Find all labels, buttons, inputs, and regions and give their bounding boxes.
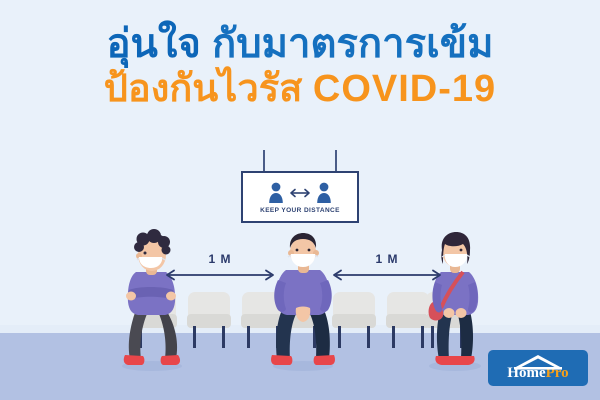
eye-right [308,249,311,252]
headline-rest: กับมาตรการเข้ม [212,22,493,66]
headline-emphasis: อุ่นใจ [107,22,201,66]
person-center [262,228,344,373]
person-left [108,228,192,373]
hand-left [444,308,455,318]
hand-left [126,292,136,301]
chair-leg [193,326,196,348]
face-mask [291,254,315,267]
chair-leg [222,326,225,348]
page-title: อุ่นใจ กับมาตรการเข้ม ป้องกันไวรัส COVID… [0,24,600,108]
distance-marker-left: 1 M [163,252,277,286]
sign-caption: KEEP YOUR DISTANCE [260,207,340,214]
poster-canvas: อุ่นใจ กับมาตรการเข้ม ป้องกันไวรัส COVID… [0,0,600,400]
double-arrow-icon [289,187,311,199]
shoe-right [453,356,475,365]
distance-label: 1 M [163,252,277,266]
headline-covid-label: COVID-19 [313,68,496,110]
distance-label: 1 M [330,252,444,266]
eye [460,249,463,252]
leg-left [129,310,147,359]
eye-left [296,249,299,252]
hands-clasped [296,307,310,323]
person-right [415,228,495,373]
chair-2 [187,292,231,342]
person-icon [268,182,284,204]
sign-board: KEEP YOUR DISTANCE [241,171,359,223]
sign-pictogram-group [268,182,332,204]
sign-cord-left [263,150,265,172]
distance-marker-right: 1 M [330,252,444,286]
shoe-left [124,355,145,365]
double-arrow-icon [163,269,277,281]
person-icon [316,182,332,204]
headline-line-2: ป้องกันไวรัส COVID-19 [0,70,600,108]
person-right-illustration [415,228,495,373]
hand-right [456,308,467,318]
eye [144,252,147,255]
house-roof-icon [512,354,564,370]
hand-right [166,292,176,301]
face-mask [445,254,467,267]
sign-cord-right [335,150,337,172]
headline-thai-prevent: ป้องกันไวรัส [104,68,303,110]
double-arrow-icon [330,269,444,281]
chair-leg [247,326,250,348]
person-center-illustration [262,228,344,373]
hair-curl [134,242,144,252]
shoe-right [161,355,180,365]
shoe-left [271,355,292,365]
shoe-right [314,355,335,365]
chair-leg [392,326,395,348]
chair-leg [367,326,370,348]
leg-right [159,310,177,359]
headline-line-1: อุ่นใจ กับมาตรการเข้ม [0,24,600,64]
homepro-logo[interactable]: HomePro [488,350,588,386]
person-left-illustration [108,228,192,373]
